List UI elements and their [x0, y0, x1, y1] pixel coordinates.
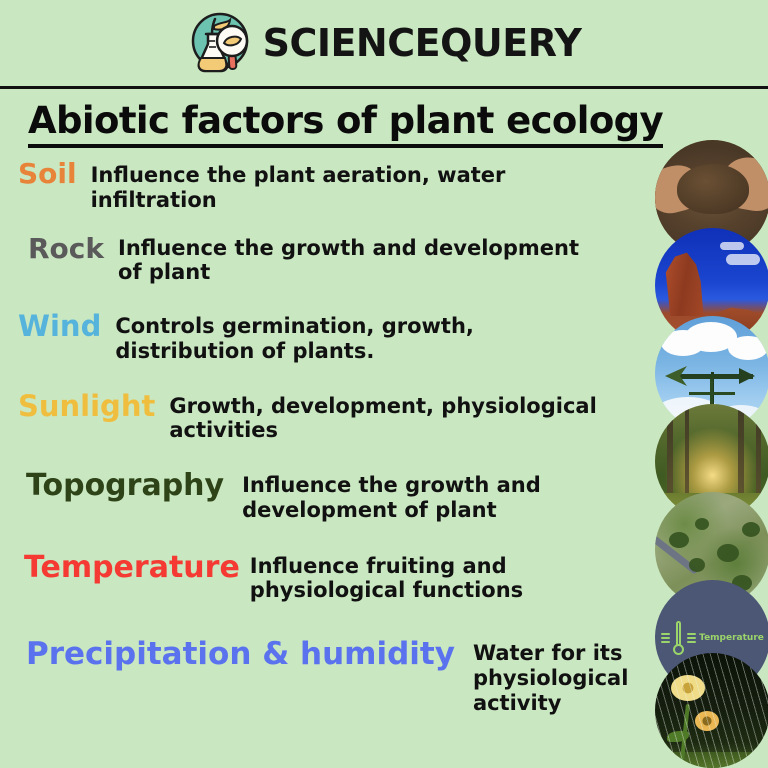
- weather-vane-tip: [739, 368, 755, 384]
- rain-drops-overlay: [655, 653, 768, 768]
- factor-row-temperature: Temperature Influence fruiting and physi…: [0, 551, 660, 604]
- factor-name-temperature: Temperature: [18, 551, 240, 585]
- factor-description-precipitation: Water for its physiological activity: [473, 637, 633, 715]
- factor-description-sunlight: Growth, development, physiological activ…: [169, 390, 599, 444]
- soil-clump-shape: [677, 164, 749, 214]
- factor-row-topography: Topography Influence the growth and deve…: [0, 469, 660, 523]
- tree-trunk-shape: [667, 404, 673, 500]
- factor-name-topography: Topography: [18, 469, 224, 503]
- factor-name-sunlight: Sunlight: [18, 390, 155, 422]
- factor-list: Soil Influence the plant aeration, water…: [0, 158, 660, 715]
- factor-description-wind: Controls germination, growth, distributi…: [115, 310, 615, 364]
- factor-name-precipitation: Precipitation & humidity: [18, 637, 455, 672]
- cloud-shape: [728, 336, 768, 360]
- tree-trunk-shape: [756, 404, 761, 500]
- brand-header: SCIENCEQUERY: [0, 0, 768, 86]
- factor-description-topography: Influence the growth and development of …: [242, 469, 562, 523]
- flask-magnifier-leaf-icon: [187, 10, 253, 76]
- brand-name: SCIENCEQUERY: [263, 24, 582, 62]
- tree-trunk-shape: [738, 404, 744, 500]
- factor-description-rock: Influence the growth and development of …: [118, 233, 598, 286]
- thermometer-icon: [673, 621, 684, 655]
- bush-shape: [689, 558, 705, 572]
- page-title-wrap: Abiotic factors of plant ecology: [28, 100, 688, 148]
- heat-waves-icon: [687, 633, 696, 643]
- factor-description-temperature: Influence fruiting and physiological fun…: [250, 551, 550, 604]
- header-divider: [0, 86, 768, 89]
- bush-shape: [695, 518, 709, 530]
- temperature-badge-label: Temperature: [699, 633, 764, 643]
- page-title: Abiotic factors of plant ecology: [28, 100, 663, 148]
- factor-row-sunlight: Sunlight Growth, development, physiologi…: [0, 390, 660, 444]
- factor-row-rock: Rock Influence the growth and developmen…: [0, 233, 660, 286]
- factor-name-soil: Soil: [18, 158, 77, 189]
- rain-sunflower-photo: [655, 653, 768, 768]
- tree-trunk-shape: [685, 404, 689, 500]
- factor-name-rock: Rock: [18, 233, 104, 264]
- photo-strip: Temperature: [655, 140, 768, 768]
- butte-shape: [663, 250, 709, 316]
- bush-shape: [717, 544, 739, 562]
- heat-waves-icon: [661, 633, 670, 643]
- factor-row-wind: Wind Controls germination, growth, distr…: [0, 310, 660, 364]
- cloud-shape: [720, 242, 744, 250]
- factor-name-wind: Wind: [18, 310, 101, 342]
- cloud-shape: [726, 254, 760, 265]
- factor-row-precipitation: Precipitation & humidity Water for its p…: [0, 637, 660, 715]
- factor-row-soil: Soil Influence the plant aeration, water…: [0, 158, 660, 213]
- bush-shape: [742, 522, 760, 537]
- factor-description-soil: Influence the plant aeration, water infi…: [91, 158, 636, 213]
- bush-shape: [669, 532, 689, 548]
- infographic-page: SCIENCEQUERY Abiotic factors of plant ec…: [0, 0, 768, 768]
